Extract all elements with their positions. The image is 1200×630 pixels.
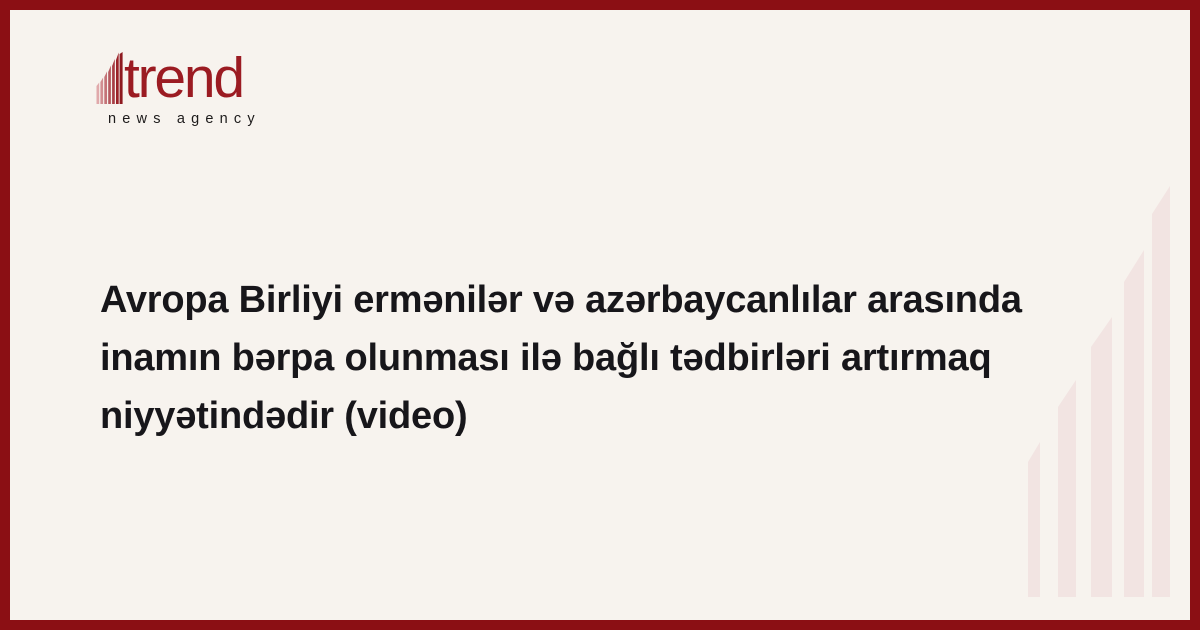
headline-line-2: inamın bərpa olunması ilə bağlı tədbirlə… [100,329,1030,387]
trend-logo[interactable]: trend news agency [96,48,396,127]
headline-line-3: niyyətindədir (video) [100,387,1030,445]
watermark-bar-5 [1152,186,1170,597]
logo-primary-row: trend [96,48,396,104]
logo-wordmark: trend [124,52,243,104]
social-share-card: trend news agency Avropa Birliyi ermənil… [0,0,1200,630]
rising-bars-watermark [1028,172,1170,597]
article-headline: Avropa Birliyi ermənilər və azərbaycanlı… [100,271,1030,445]
headline-line-1: Avropa Birliyi ermənilər və azərbaycanlı… [100,271,1030,329]
card-inner-surface: trend news agency Avropa Birliyi ermənil… [10,10,1190,620]
watermark-bar-3 [1091,317,1112,597]
logo-tagline: news agency [108,111,396,127]
watermark-bar-1 [1028,442,1040,597]
trend-bars-mark-icon [96,52,124,104]
watermark-bar-2 [1058,380,1076,597]
watermark-bar-4 [1124,250,1144,597]
